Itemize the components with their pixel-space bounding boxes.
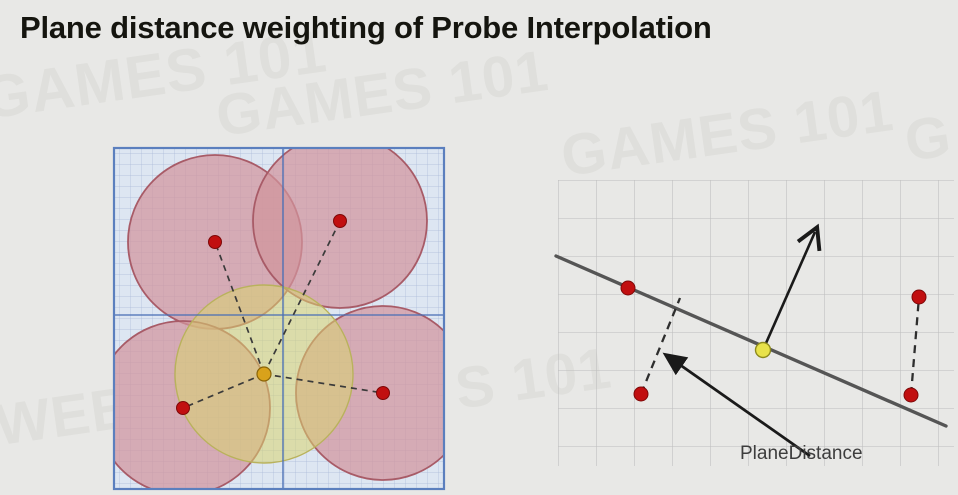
slide-title: Plane distance weighting of Probe Interp… — [20, 10, 712, 46]
plane-distance-label: PlaneDistance — [740, 443, 863, 465]
probe-point[interactable] — [377, 387, 390, 400]
probe-point[interactable] — [621, 281, 635, 295]
probe-point[interactable] — [904, 388, 918, 402]
watermark-text: G — [901, 102, 956, 175]
watermark-text: GAMES 101 — [557, 77, 898, 190]
probe-point[interactable] — [634, 387, 648, 401]
sample-point[interactable] — [257, 367, 271, 381]
slide-canvas: GAMES 101 GAMES 101 GAMES 101 G WEBS S 1… — [0, 0, 958, 495]
probe-point[interactable] — [912, 290, 926, 304]
probe-point[interactable] — [177, 402, 190, 415]
probe-point[interactable] — [334, 215, 347, 228]
sample-point[interactable] — [756, 343, 771, 358]
plane-distance-diagram — [548, 176, 958, 476]
probe-grid-diagram — [108, 142, 452, 495]
probe-point[interactable] — [209, 236, 222, 249]
watermark-text: GAMES 101 — [212, 37, 553, 150]
grid-background — [558, 180, 954, 466]
